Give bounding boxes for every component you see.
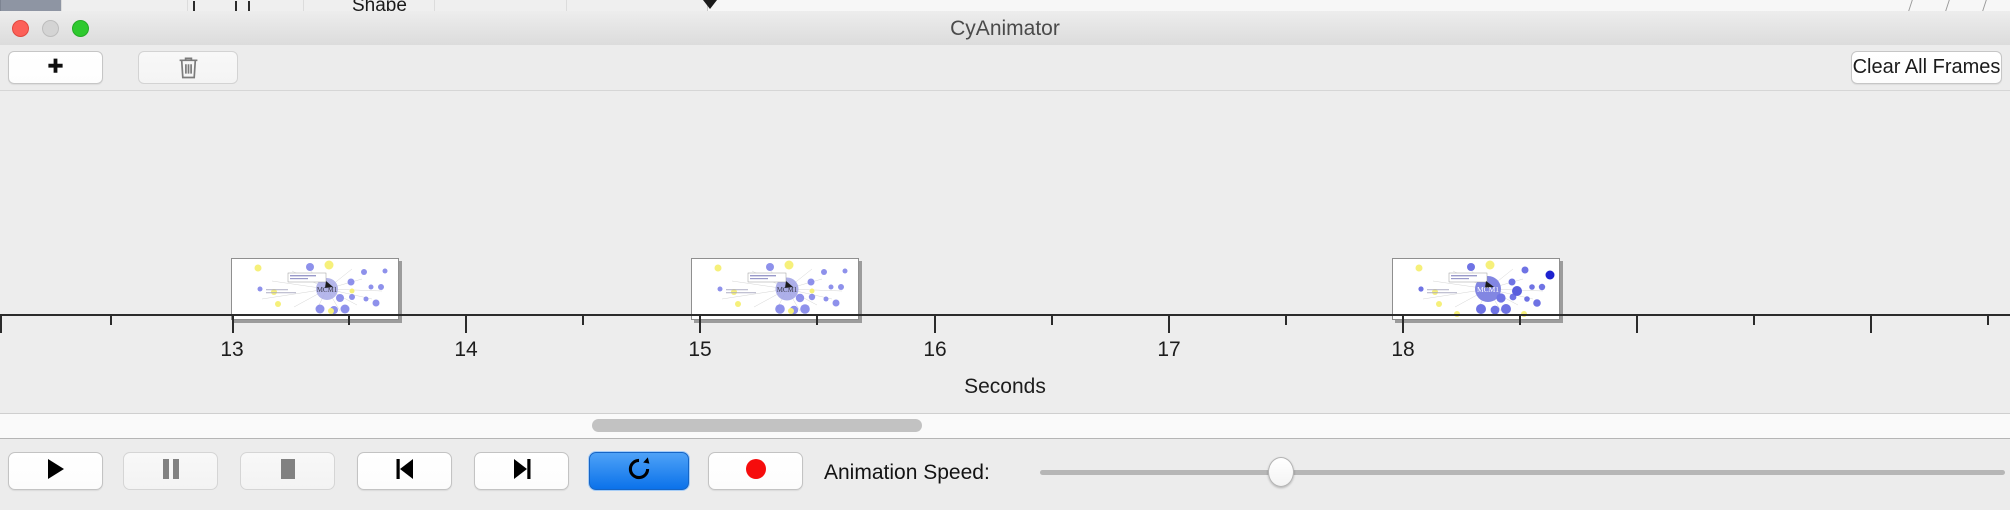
axis-major-tick bbox=[232, 316, 234, 333]
cyanimator-window: Shape CyAnimator bbox=[0, 0, 2010, 510]
timeline-frame[interactable]: MCM1 bbox=[1392, 258, 1560, 320]
axis-tick-label: 2 bbox=[0, 338, 7, 362]
stop-icon bbox=[278, 457, 298, 486]
plus-icon bbox=[45, 57, 66, 78]
timeline-scrollbar-thumb[interactable] bbox=[592, 419, 922, 432]
slider-track bbox=[1040, 470, 2005, 475]
axis-major-tick bbox=[1168, 316, 1170, 333]
add-frame-button[interactable] bbox=[8, 51, 103, 84]
skip-forward-icon bbox=[511, 457, 533, 486]
timeline-frame[interactable]: MCM1 bbox=[231, 258, 399, 320]
record-button[interactable] bbox=[708, 452, 803, 490]
toolbar: Clear All Frames bbox=[0, 45, 2010, 91]
play-button[interactable] bbox=[8, 452, 103, 490]
frame-hub-label: MCM1 bbox=[777, 286, 798, 294]
axis-tick-label: 14 bbox=[436, 338, 496, 362]
stop-button[interactable] bbox=[240, 452, 335, 490]
trash-icon bbox=[178, 56, 199, 80]
clear-all-frames-button[interactable]: Clear All Frames bbox=[1851, 51, 2002, 84]
axis-tick-label: 13 bbox=[202, 338, 262, 362]
play-icon bbox=[45, 457, 67, 486]
slider-knob[interactable] bbox=[1268, 457, 1294, 487]
skip-to-start-button[interactable] bbox=[357, 452, 452, 490]
animation-speed-slider[interactable] bbox=[1040, 469, 2005, 475]
axis-minor-tick bbox=[816, 316, 818, 325]
timeline-axis-line bbox=[0, 314, 2010, 316]
axis-minor-tick bbox=[1753, 316, 1755, 325]
axis-tick-label: 17 bbox=[1139, 338, 1199, 362]
frame-thumbnail-network: MCM1 bbox=[692, 259, 858, 319]
skip-to-end-button[interactable] bbox=[474, 452, 569, 490]
axis-minor-tick bbox=[110, 316, 112, 325]
loop-button[interactable] bbox=[589, 452, 689, 490]
axis-minor-tick bbox=[1987, 316, 1989, 325]
axis-major-tick bbox=[699, 316, 701, 333]
window-title: CyAnimator bbox=[0, 17, 2010, 41]
timeline-scrollbar[interactable] bbox=[0, 413, 2010, 439]
axis-tick-label: 16 bbox=[905, 338, 965, 362]
title-bar[interactable]: CyAnimator bbox=[0, 11, 2010, 46]
clear-all-frames-label: Clear All Frames bbox=[1853, 56, 2001, 79]
axis-major-tick bbox=[934, 316, 936, 333]
playback-controls: Animation Speed: bbox=[0, 439, 2010, 510]
axis-major-tick bbox=[465, 316, 467, 333]
timeline-frame[interactable]: MCM1 bbox=[691, 258, 859, 320]
axis-minor-tick bbox=[1519, 316, 1521, 325]
axis-minor-tick bbox=[1051, 316, 1053, 325]
axis-title: Seconds bbox=[0, 375, 2010, 399]
axis-tick-label: 15 bbox=[670, 338, 730, 362]
delete-frame-button[interactable] bbox=[138, 51, 238, 84]
skip-back-icon bbox=[394, 457, 416, 486]
loop-icon bbox=[626, 456, 652, 487]
frame-hub-label: MCM1 bbox=[1477, 285, 1499, 294]
frame-hub-label: MCM1 bbox=[317, 286, 338, 294]
axis-major-tick bbox=[1636, 316, 1638, 333]
axis-minor-tick bbox=[348, 316, 350, 325]
frame-thumbnail-network: MCM1 bbox=[1393, 259, 1559, 319]
timeline-panel[interactable]: MCM1 bbox=[0, 90, 2010, 413]
pause-button[interactable] bbox=[123, 452, 218, 490]
frame-thumbnail-network: MCM1 bbox=[232, 259, 398, 319]
timeline-top-divider bbox=[0, 90, 2010, 91]
axis-tick-label: 18 bbox=[1373, 338, 1433, 362]
record-icon bbox=[744, 457, 768, 486]
axis-major-tick bbox=[1402, 316, 1404, 333]
axis-major-tick bbox=[1870, 316, 1872, 333]
axis-major-tick bbox=[0, 316, 2, 333]
pause-icon bbox=[161, 457, 181, 486]
axis-minor-tick bbox=[1285, 316, 1287, 325]
animation-speed-label: Animation Speed: bbox=[824, 461, 990, 485]
axis-minor-tick bbox=[582, 316, 584, 325]
